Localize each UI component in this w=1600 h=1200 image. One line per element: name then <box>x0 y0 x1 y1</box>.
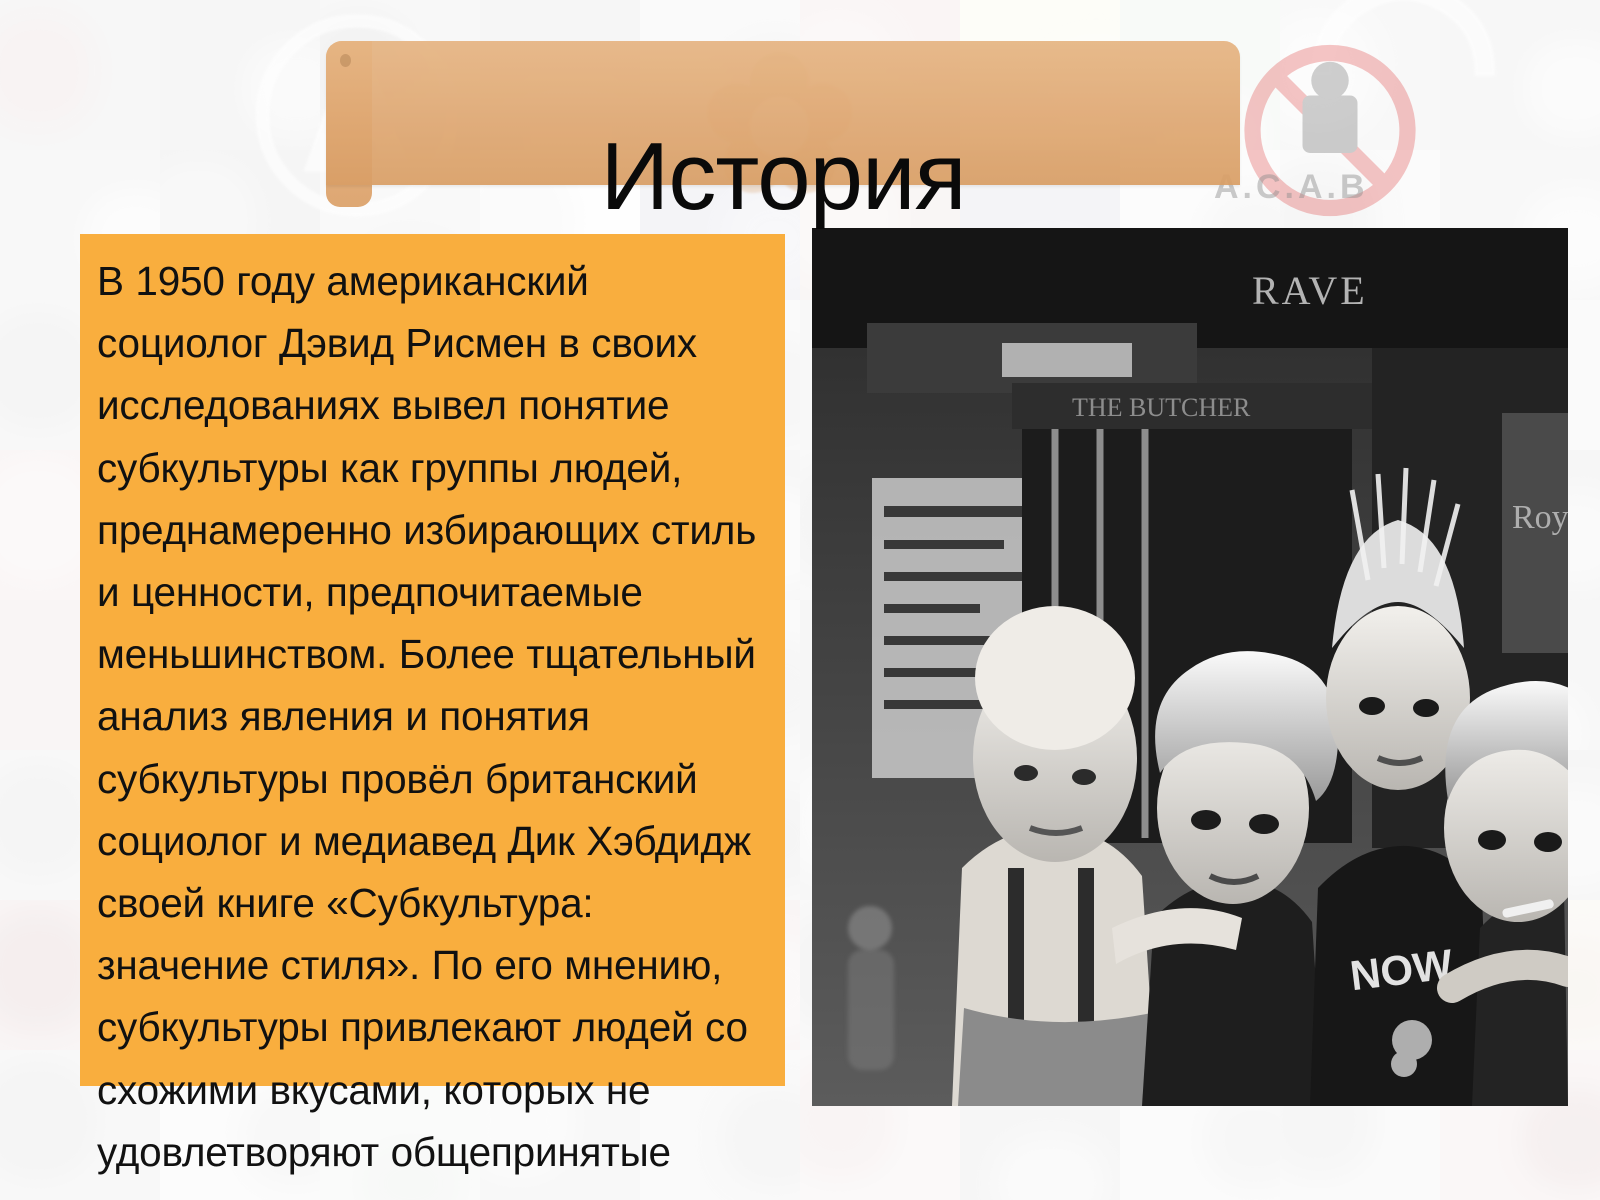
page-title: История <box>326 105 1240 249</box>
svg-text:THE BUTCHER: THE BUTCHER <box>1072 393 1251 422</box>
body-paragraph: В 1950 году американский социолог Дэвид … <box>97 250 763 1200</box>
collage-tile <box>0 0 160 150</box>
body-text-panel: В 1950 году американский социолог Дэвид … <box>80 234 785 1086</box>
sign-text-right: Roy <box>1512 499 1568 536</box>
collage-tile <box>1280 0 1440 150</box>
sign-text-top: RAVE <box>1252 268 1368 313</box>
collage-tile <box>160 0 320 150</box>
collage-tile <box>1440 0 1600 150</box>
slide: Ⓐ ◠ ✿ A.C.A.B История В 1950 году америк… <box>0 0 1600 1200</box>
banner-dot-icon <box>340 54 351 67</box>
punks-photo-graphic: THE BUTCHER RAVE Roy <box>812 228 1568 1106</box>
punks-photo: THE BUTCHER RAVE Roy <box>812 228 1568 1106</box>
